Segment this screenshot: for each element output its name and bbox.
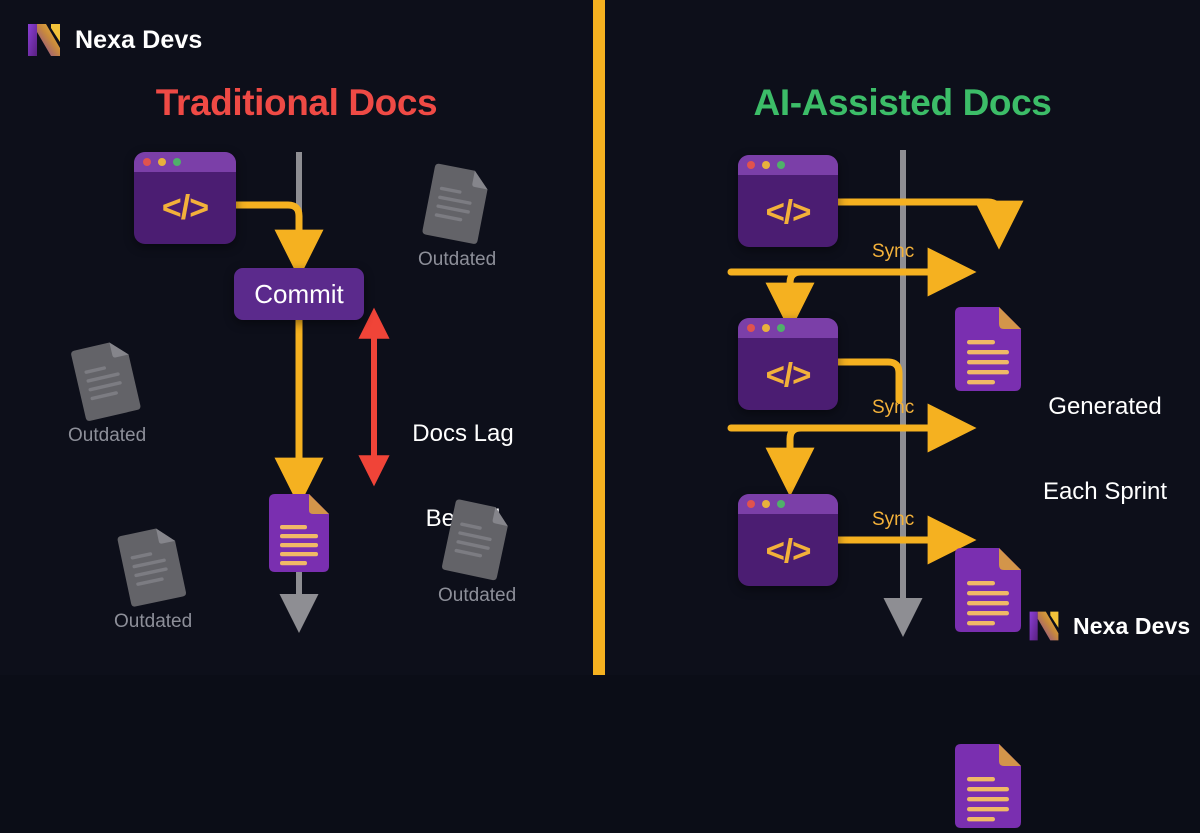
outdated-document-icon: [66, 336, 148, 427]
code-window-titlebar: [738, 318, 838, 338]
window-dot-red-icon: [747, 324, 755, 332]
document-icon-3: [955, 744, 1021, 828]
outdated-document-icon: [437, 496, 518, 586]
document-shape: [269, 494, 329, 572]
generated-each-sprint-label: Generated Each Sprint: [1017, 336, 1193, 563]
code-glyph: </>: [766, 534, 811, 567]
window-dot-red-icon: [747, 500, 755, 508]
left-panel-title: Traditional Docs: [0, 82, 593, 124]
right-panel-title: AI-Assisted Docs: [605, 82, 1200, 124]
code-window-body: </>: [738, 514, 838, 586]
nexa-n-monogram-icon: [1026, 608, 1062, 644]
sync-label-1: Sync: [872, 241, 914, 263]
commit-node: Commit: [234, 268, 364, 320]
window-dot-yellow-icon: [762, 500, 770, 508]
document-shape: [955, 307, 1021, 391]
brand-top-left: Nexa Devs: [24, 20, 202, 60]
document-icon-2: [955, 548, 1021, 632]
panel-divider: [593, 0, 605, 675]
window-dot-yellow-icon: [158, 158, 166, 166]
outdated-doc-label: Outdated: [68, 425, 146, 447]
nexa-n-monogram-icon: [24, 20, 64, 60]
outdated-doc-2: Outdated: [68, 342, 146, 447]
document-icon: [269, 494, 329, 572]
outdated-document-icon: [417, 160, 497, 249]
window-dot-red-icon: [143, 158, 151, 166]
code-window-titlebar: [738, 494, 838, 514]
window-dot-green-icon: [777, 500, 785, 508]
window-dot-red-icon: [747, 161, 755, 169]
code-window-icon-1: </>: [738, 155, 838, 247]
code-window-titlebar: [134, 152, 236, 172]
code-window-body: </>: [134, 172, 236, 244]
sync-label-3: Sync: [872, 509, 914, 531]
generated-line-1: Generated: [1017, 393, 1193, 421]
code-window-icon-3: </>: [738, 494, 838, 586]
outdated-doc-label: Outdated: [438, 585, 516, 607]
code-glyph: </>: [766, 195, 811, 228]
document-shape: [955, 548, 1021, 632]
outdated-doc-1: Outdated: [418, 166, 496, 271]
outdated-doc-4: Outdated: [438, 502, 516, 607]
code-window-icon-2: </>: [738, 318, 838, 410]
code-window-icon: </>: [134, 152, 236, 244]
window-dot-green-icon: [777, 161, 785, 169]
code-window-body: </>: [738, 175, 838, 247]
generated-line-2: Each Sprint: [1017, 478, 1193, 506]
code-glyph: </>: [162, 191, 208, 225]
window-dot-green-icon: [777, 324, 785, 332]
outdated-doc-label: Outdated: [114, 611, 192, 633]
code-window-body: </>: [738, 338, 838, 410]
brand-bottom-right: Nexa Devs: [1026, 608, 1190, 644]
window-dot-yellow-icon: [762, 324, 770, 332]
outdated-doc-3: Outdated: [114, 528, 192, 633]
infographic-canvas: Traditional Docs </> Commit Docs Lag Beh…: [0, 0, 1200, 675]
brand-name: Nexa Devs: [1073, 613, 1190, 640]
document-shape: [955, 744, 1021, 828]
brand-name: Nexa Devs: [75, 26, 202, 55]
sync-label-2: Sync: [872, 397, 914, 419]
document-icon-1: [955, 307, 1021, 391]
docs-lag-line-1: Docs Lag: [388, 420, 538, 448]
code-window-titlebar: [738, 155, 838, 175]
window-dot-green-icon: [173, 158, 181, 166]
outdated-document-icon: [113, 522, 194, 612]
window-dot-yellow-icon: [762, 161, 770, 169]
outdated-doc-label: Outdated: [418, 249, 496, 271]
code-glyph: </>: [766, 358, 811, 391]
